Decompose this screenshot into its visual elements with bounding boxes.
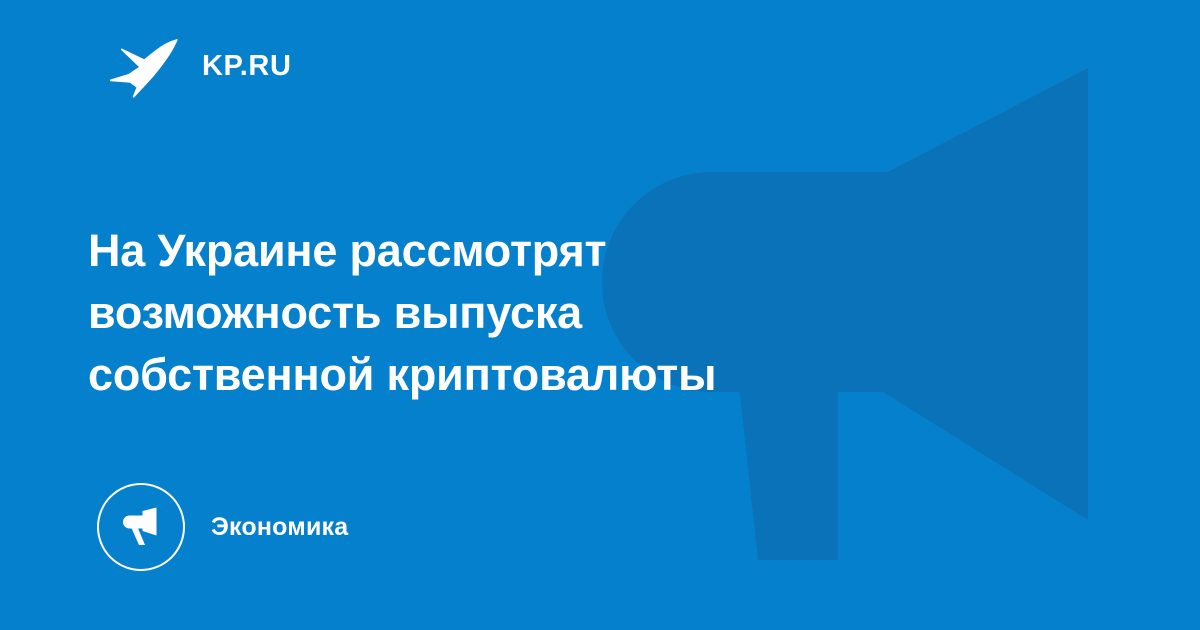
news-share-card: KP.RU На Украине рассмотрят возможность … — [0, 0, 1200, 630]
headline-line-1: На Украине рассмотрят — [88, 220, 968, 282]
megaphone-icon — [118, 504, 164, 550]
page-title: На Украине рассмотрят возможность выпуск… — [88, 220, 968, 406]
rubric-label: Экономика — [211, 515, 348, 540]
rubric-icon-circle — [97, 483, 185, 571]
brand-name: KP.RU — [202, 52, 292, 81]
headline-line-3: собственной криптовалюты — [88, 344, 968, 406]
headline-line-2: возможность выпуска — [88, 282, 968, 344]
brand-logo[interactable]: KP.RU — [108, 34, 292, 98]
swallow-bird-icon — [108, 34, 180, 98]
rubric-badge[interactable]: Экономика — [97, 483, 348, 571]
